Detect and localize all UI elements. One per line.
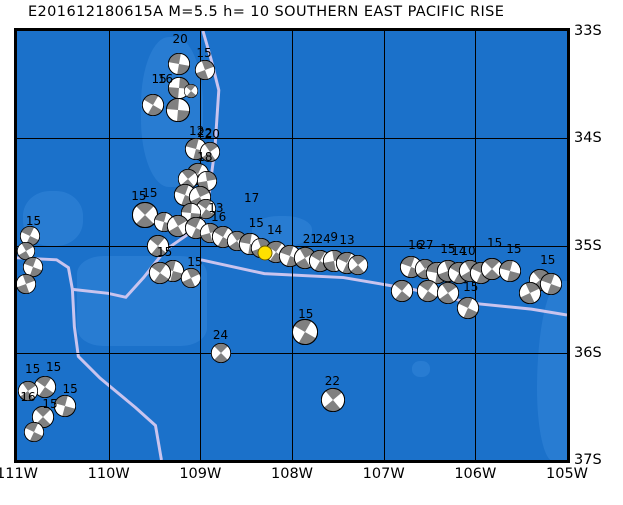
x-axis-tick-label: 105W	[546, 466, 588, 482]
focal-mechanism-beachball[interactable]	[166, 98, 190, 122]
focal-mechanism-beachball[interactable]	[142, 94, 164, 116]
x-axis-tick-label: 106W	[454, 466, 496, 482]
y-axis-tick-label: 37S	[574, 452, 602, 468]
focal-mechanism-beachball[interactable]	[417, 280, 439, 302]
y-axis-tick-label: 36S	[574, 345, 602, 361]
figure-title: E201612180615A M=5.5 h= 10 SOUTHERN EAST…	[28, 4, 504, 20]
focal-mechanism-beachball[interactable]	[184, 84, 198, 98]
y-axis-tick-label: 35S	[574, 238, 602, 254]
seismicity-map-figure: E201612180615A M=5.5 h= 10 SOUTHERN EAST…	[0, 0, 623, 505]
y-axis-tick-label: 34S	[574, 130, 602, 146]
focal-mechanism-beachball[interactable]	[211, 343, 231, 363]
focal-mechanism-beachball[interactable]	[391, 280, 413, 302]
focal-mechanism-beachball[interactable]	[499, 260, 521, 282]
map-plot-area: 2015151612222018151517131514161515212491…	[14, 28, 570, 463]
focal-mechanism-beachball[interactable]	[181, 268, 201, 288]
gridline-horizontal	[17, 353, 567, 354]
focal-mechanism-beachball[interactable]	[437, 282, 459, 304]
focal-mechanism-beachball[interactable]	[348, 255, 368, 275]
x-axis-tick-label: 108W	[271, 466, 313, 482]
y-axis-tick-label: 33S	[574, 23, 602, 39]
focal-mechanism-beachball[interactable]	[457, 297, 479, 319]
focal-mechanism-beachball[interactable]	[147, 235, 169, 257]
x-axis-tick-label: 110W	[88, 466, 130, 482]
focal-mechanism-beachball[interactable]	[519, 282, 541, 304]
x-axis-tick-label: 107W	[363, 466, 405, 482]
x-axis-tick-label: 111W	[0, 466, 38, 482]
main-event-marker[interactable]	[258, 246, 273, 261]
focal-mechanism-beachball[interactable]	[16, 274, 36, 294]
focal-mechanism-beachball[interactable]	[292, 319, 318, 345]
focal-mechanism-beachball[interactable]	[149, 262, 171, 284]
focal-mechanism-beachball[interactable]	[54, 395, 76, 417]
plate-boundary-line-sw	[72, 289, 161, 460]
x-axis-tick-label: 109W	[179, 466, 221, 482]
focal-mechanism-beachball[interactable]	[200, 142, 220, 162]
focal-mechanism-beachball[interactable]	[321, 388, 345, 412]
focal-mechanism-beachball[interactable]	[540, 273, 562, 295]
focal-mechanism-beachball[interactable]	[18, 381, 38, 401]
gridline-horizontal	[17, 138, 567, 139]
focal-mechanism-beachball[interactable]	[168, 53, 190, 75]
focal-mechanism-beachball[interactable]	[195, 60, 215, 80]
focal-mechanism-beachball[interactable]	[24, 422, 44, 442]
